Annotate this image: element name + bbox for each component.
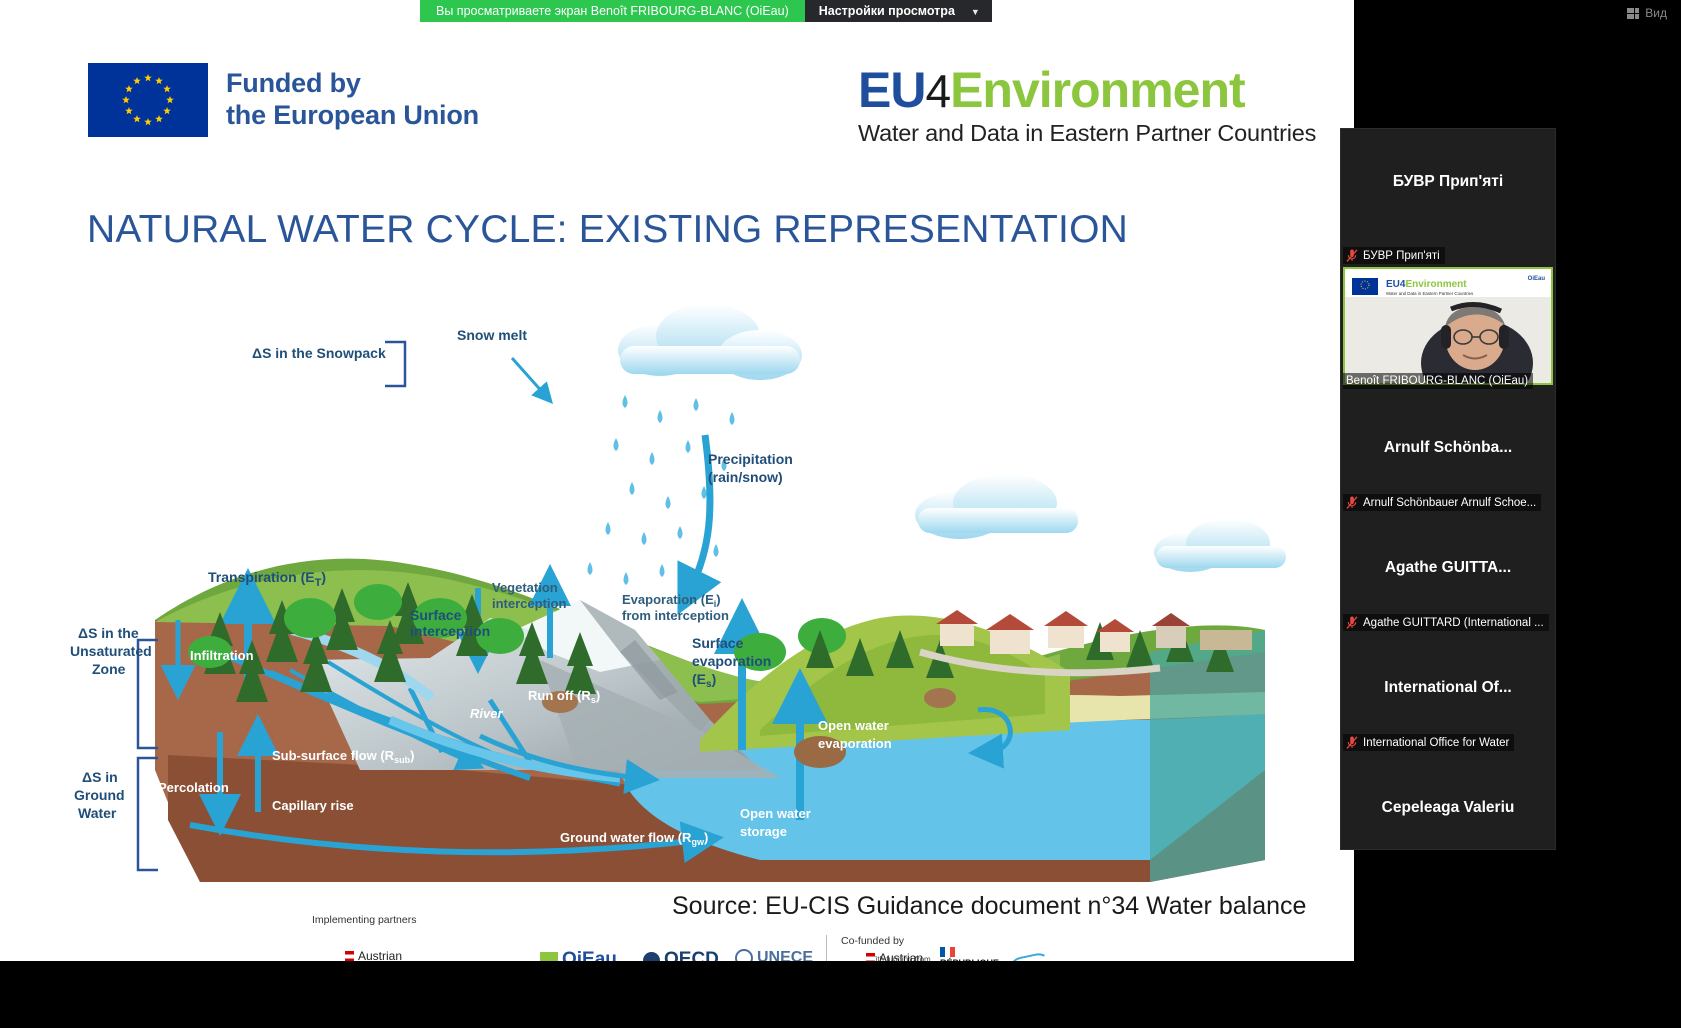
participant-name-tag: Arnulf Schönbauer Arnulf Schoe... <box>1343 494 1541 511</box>
label-subsurface-flow: Sub-surface flow (Rsub) <box>272 748 414 765</box>
label-infiltration: Infiltration <box>190 648 254 663</box>
participant-tag-label: Agathe GUITTARD (International ... <box>1363 617 1544 629</box>
footer-logo-austrian-right: Austrian <box>866 951 923 961</box>
label-open-water-storage-2: storage <box>740 824 787 839</box>
footer-divider <box>826 935 827 961</box>
brand-environment: Environment <box>950 62 1245 118</box>
label-snowmelt: Snow melt <box>457 327 527 343</box>
austria-flag-icon <box>345 951 354 962</box>
label-capillary-rise: Capillary rise <box>272 798 354 813</box>
footer-logo-france: RÉPUBLIQUE <box>940 947 999 961</box>
oieau-mark-icon <box>540 952 558 961</box>
participant-tile[interactable]: Cepeleaga Valeriu Cepeleaga Valeriu <box>1341 755 1555 850</box>
water-cycle-figure: ΔS in the Snowpack Snow melt Transpirati… <box>60 300 1290 890</box>
participant-name-tag: БУВР Прип'яті <box>1343 247 1445 264</box>
label-runoff: Run off (Rs) <box>528 688 600 705</box>
co-funded-by-label: Co-funded by <box>841 935 904 947</box>
label-vegetation-interception: Vegetation <box>492 580 558 595</box>
label-precipitation: Precipitation <box>708 451 793 467</box>
share-notice: Вы просматриваете экран Benoît FRIBOURG-… <box>420 0 805 22</box>
mic-muted-icon <box>1346 616 1358 629</box>
label-groundwater-storage: ΔS in <box>82 769 118 785</box>
label-unsaturated-zone-3: Zone <box>92 661 126 677</box>
mic-muted-icon <box>1346 736 1358 749</box>
participant-tag-label: International Office for Water <box>1363 737 1509 749</box>
label-surface-interception-2: interception <box>410 623 490 639</box>
participant-display-name: International Of... <box>1341 635 1555 697</box>
view-layout-button[interactable]: Вид <box>1627 6 1667 20</box>
label-vegetation-interception-2: interception <box>492 596 566 611</box>
footer-logo-oieau: OiEau <box>540 949 617 961</box>
thumbnail-corner-logo: OiEau <box>1528 276 1545 282</box>
label-groundwater-flow: Ground water flow (Rgw) <box>560 830 708 847</box>
participant-video-tag-label: Benoît FRIBOURG-BLANC (OiEau) <box>1346 375 1528 387</box>
participant-video-thumbnail[interactable]: EU4Environment Water and Data in Eastern… <box>1343 267 1553 385</box>
brand-four: 4 <box>925 65 950 117</box>
participant-tile[interactable]: Agathe GUITTA... Agathe GUITTARD (Intern… <box>1341 515 1555 635</box>
oecd-mark-icon <box>643 952 660 962</box>
participant-display-name: Cepeleaga Valeriu <box>1341 755 1555 817</box>
app-root: Funded by the European Union EU4Environm… <box>0 0 1681 1028</box>
page-title: NATURAL WATER CYCLE: EXISTING REPRESENTA… <box>87 208 1128 252</box>
participant-name-tag: International Office for Water <box>1343 734 1514 751</box>
eu-flag-icon-mini <box>1352 278 1378 295</box>
brand-wordmark: EU4Environment <box>858 65 1316 115</box>
participant-name-tag: Agathe GUITTARD (International ... <box>1343 614 1549 631</box>
participant-video-name-tag: Benoît FRIBOURG-BLANC (OiEau) <box>1343 373 1533 389</box>
label-precipitation-2: (rain/snow) <box>708 469 783 485</box>
chevron-down-icon: ▼ <box>971 7 980 17</box>
participant-display-name: БУВР Прип'яті <box>1341 129 1555 191</box>
brand-tagline: Water and Data in Eastern Partner Countr… <box>858 120 1316 147</box>
view-layout-label: Вид <box>1645 6 1667 20</box>
label-open-water-evaporation-2: evaporation <box>818 736 892 751</box>
label-unsaturated-zone-2: Unsaturated <box>70 643 152 659</box>
participant-rail[interactable]: БУВР Прип'яті БУВР Прип'яті <box>1340 128 1556 850</box>
eu-funding-logo: Funded by the European Union <box>88 63 479 137</box>
label-evaporation-interception-2: from interception <box>622 608 729 623</box>
footer-logo-austrian: Austrian <box>345 949 402 961</box>
label-open-water-storage: Open water <box>740 806 811 821</box>
unece-mark-icon <box>735 949 753 961</box>
view-settings-button[interactable]: Настройки просмотра ▼ <box>805 0 992 22</box>
footer-logo-oecd: OECD <box>643 949 719 961</box>
slide-footer: Implementing partners Co-funded by With … <box>0 905 1354 961</box>
label-evaporation-interception: Evaporation (Ei) <box>622 592 721 609</box>
grid-view-icon <box>1627 8 1639 19</box>
participant-tag-label: БУВР Прип'яті <box>1363 250 1440 262</box>
view-settings-label: Настройки просмотра <box>819 4 955 18</box>
mic-muted-icon <box>1346 249 1358 262</box>
implementing-partners-label: Implementing partners <box>312 914 416 926</box>
france-flag-icon <box>940 947 955 957</box>
mic-muted-icon <box>1346 496 1358 509</box>
eu4environment-logo: EU4Environment Water and Data in Eastern… <box>858 65 1316 147</box>
label-open-water-evaporation: Open water <box>818 718 889 733</box>
participant-tile[interactable]: БУВР Прип'яті <box>1341 129 1555 247</box>
label-groundwater-storage-3: Water <box>78 805 117 821</box>
label-surface-evaporation-2: evaporation <box>692 653 771 669</box>
austria-flag-icon-2 <box>866 953 875 962</box>
brand-eu: EU <box>858 62 925 118</box>
participant-webcam-image <box>1345 297 1551 383</box>
label-surface-evaporation: Surface <box>692 635 744 651</box>
label-unsaturated-zone: ΔS in the <box>78 625 139 641</box>
footer-logo-arc-mark <box>1008 951 1051 961</box>
eu-flag-icon <box>88 63 208 137</box>
label-snowpack: ΔS in the Snowpack <box>252 345 386 361</box>
eu-funding-line1: Funded by <box>226 68 479 100</box>
footer-logo-unece: UNECE <box>735 949 813 961</box>
thumbnail-brand-tagline: Water and Data in Eastern Partner Countr… <box>1386 292 1473 297</box>
eu-funding-line2: the European Union <box>226 100 479 132</box>
thumbnail-brand-wordmark: EU4Environment <box>1386 279 1467 290</box>
participant-video-tile[interactable]: БУВР Прип'яті EU4Environment Water and D… <box>1341 247 1555 369</box>
participant-display-name: Agathe GUITTA... <box>1341 515 1555 577</box>
thumbnail-brand: EU4Environment Water and Data in Eastern… <box>1386 275 1473 296</box>
label-percolation: Percolation <box>158 780 229 795</box>
screen-share-banner: Вы просматриваете экран Benoît FRIBOURG-… <box>420 0 992 22</box>
participant-display-name: Arnulf Schönba... <box>1341 395 1555 457</box>
participant-tag-label: Arnulf Schönbauer Arnulf Schoe... <box>1363 497 1536 509</box>
eu-funding-text: Funded by the European Union <box>226 68 479 132</box>
label-surface-interception: Surface <box>410 607 462 623</box>
label-groundwater-storage-2: Ground <box>74 787 125 803</box>
label-river: River <box>470 706 503 721</box>
participant-tile[interactable]: International Of... International Office… <box>1341 635 1555 755</box>
participant-tile[interactable]: Arnulf Schönba... Arnulf Schönbauer Arnu… <box>1341 395 1555 515</box>
shared-slide: Funded by the European Union EU4Environm… <box>0 0 1354 961</box>
